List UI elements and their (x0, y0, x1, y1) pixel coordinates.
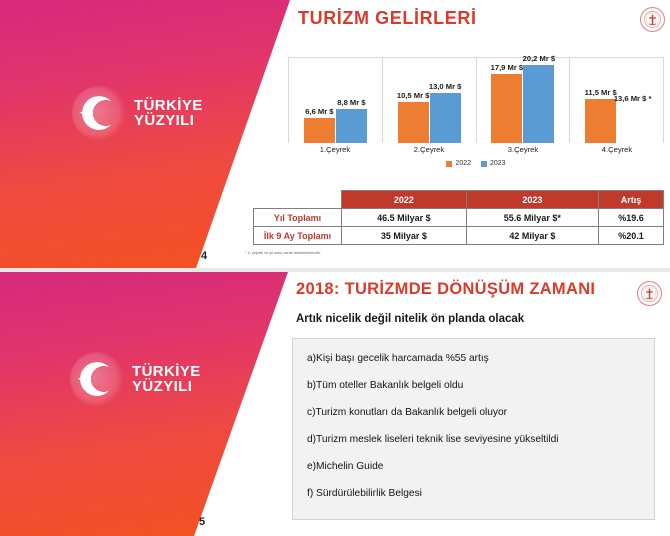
legend-swatch-2022 (446, 161, 452, 167)
bar-2023-q4-projected: 13,6 Mr $ * (617, 90, 648, 143)
legend-label-2023: 2023 (490, 160, 506, 167)
list-item: a)Kişi başı gecelik harcamada %55 artış (307, 353, 654, 364)
chart-group-q3: 17,9 Mr $ 20,2 Mr $ (477, 58, 571, 143)
bar-label-2023-q3: 20,2 Mr $ (523, 54, 556, 63)
brand-logo: ✦ TÜRKİYE YÜZYILI (70, 352, 201, 406)
bar-label-2022-q4: 11,5 Mr $ (585, 88, 617, 97)
table-header-row: 2022 2023 Artış (254, 191, 664, 209)
table-header-2022: 2022 (342, 191, 467, 209)
brand-line-2: YÜZYILI (134, 113, 203, 128)
star-glyph: ✦ (77, 373, 88, 386)
bar-2022-q3: 17,9 Mr $ (491, 74, 522, 143)
footnote: * 4. çeyrek ve yıl sonu verisi tahminler… (245, 251, 321, 255)
list-item: f) Sürdürülebilirlik Belgesi (307, 488, 654, 499)
brand-wordmark: TÜRKİYE YÜZYILI (132, 364, 201, 395)
star-glyph: ✦ (79, 107, 90, 120)
cell-yil-artis: %19.6 (598, 209, 663, 227)
table-row: İlk 9 Ay Toplamı 35 Milyar $ 42 Milyar $… (254, 227, 664, 245)
crescent-star-icon: ✦ (72, 86, 126, 140)
list-item: c)Turizm konutları da Bakanlık belgeli o… (307, 407, 654, 418)
chart-plot-area: 6,6 Mr $ 8,8 Mr $ 10,5 Mr $ 13,0 Mr $ (288, 57, 664, 143)
cell-yil-2022: 46.5 Milyar $ (342, 209, 467, 227)
bar-2023-q3: 20,2 Mr $ (523, 65, 554, 143)
chart-x-axis-labels: 1.Çeyrek 2.Çeyrek 3.Çeyrek 4.Çeyrek (288, 145, 664, 159)
table-row: Yıl Toplamı 46.5 Milyar $ 55.6 Milyar $*… (254, 209, 664, 227)
slide-deck: ✦ TÜRKİYE YÜZYILI TURİZM GELİRLERİ (0, 0, 670, 536)
ministry-emblem-icon (637, 281, 662, 306)
revenue-summary-table: 2022 2023 Artış Yıl Toplamı 46.5 Milyar … (253, 190, 664, 245)
bar-2022-q2: 10,5 Mr $ (398, 102, 429, 143)
table-header-artis: Artış (598, 191, 663, 209)
list-item: d)Turizm meslek liseleri teknik lise sev… (307, 434, 654, 445)
legend-label-2022: 2022 (455, 160, 471, 167)
x-tick-q4: 4.Çeyrek (570, 145, 664, 159)
brand-line-2: YÜZYILI (132, 379, 201, 394)
bar-label-2022-q1: 6,6 Mr $ (305, 107, 333, 116)
row-label-yil-toplami: Yıl Toplamı (254, 209, 342, 227)
table-header-2023: 2023 (466, 191, 598, 209)
bar-2023-q1: 8,8 Mr $ (336, 109, 367, 143)
list-item: b)Tüm oteller Bakanlık belgeli oldu (307, 380, 654, 391)
bar-2022-q1: 6,6 Mr $ (304, 118, 335, 144)
chart-legend: 2022 2023 (288, 160, 664, 167)
legend-item-2023: 2023 (481, 160, 506, 167)
x-tick-q1: 1.Çeyrek (288, 145, 382, 159)
chart-group-q1: 6,6 Mr $ 8,8 Mr $ (288, 58, 383, 143)
bar-label-2023-q4: 13,6 Mr $ * (614, 94, 652, 103)
bar-label-2023-q2: 13,0 Mr $ (429, 82, 462, 91)
bar-2023-q2: 13,0 Mr $ (430, 93, 461, 143)
row-label-ilk9ay-toplami: İlk 9 Ay Toplamı (254, 227, 342, 245)
transformation-items-list: a)Kişi başı gecelik harcamada %55 artış … (292, 338, 655, 520)
cell-ilk9ay-artis: %20.1 (598, 227, 663, 245)
table-corner-cell (254, 191, 342, 209)
page-number: 5 (199, 516, 205, 528)
brand-logo: ✦ TÜRKİYE YÜZYILI (72, 86, 203, 140)
page-subtitle: Artık nicelik değil nitelik ön planda ol… (296, 313, 524, 325)
tourism-revenue-chart: 6,6 Mr $ 8,8 Mr $ 10,5 Mr $ 13,0 Mr $ (288, 57, 664, 169)
legend-item-2022: 2022 (446, 160, 471, 167)
list-item: e)Michelin Guide (307, 461, 654, 472)
bar-label-2022-q2: 10,5 Mr $ (397, 91, 430, 100)
cell-ilk9ay-2022: 35 Milyar $ (342, 227, 467, 245)
slide-turizm-gelirleri: ✦ TÜRKİYE YÜZYILI TURİZM GELİRLERİ (0, 0, 670, 268)
page-number: 4 (201, 250, 207, 262)
crescent-star-icon: ✦ (70, 352, 124, 406)
brand-line-1: TÜRKİYE (132, 364, 201, 379)
brand-line-1: TÜRKİYE (134, 98, 203, 113)
bar-label-2022-q3: 17,9 Mr $ (491, 63, 524, 72)
ministry-emblem-icon (640, 7, 665, 32)
chart-group-q4: 11,5 Mr $ 13,6 Mr $ * (570, 58, 664, 143)
x-tick-q2: 2.Çeyrek (382, 145, 476, 159)
x-tick-q3: 3.Çeyrek (476, 145, 570, 159)
bar-2022-q4: 11,5 Mr $ (585, 99, 616, 143)
legend-swatch-2023 (481, 161, 487, 167)
page-title: TURİZM GELİRLERİ (298, 8, 477, 29)
chart-group-q2: 10,5 Mr $ 13,0 Mr $ (383, 58, 477, 143)
brand-wordmark: TÜRKİYE YÜZYILI (134, 98, 203, 129)
page-title: 2018: TURİZMDE DÖNÜŞÜM ZAMANI (296, 280, 595, 299)
cell-ilk9ay-2023: 42 Milyar $ (466, 227, 598, 245)
bar-label-2023-q1: 8,8 Mr $ (337, 98, 365, 107)
cell-yil-2023: 55.6 Milyar $* (466, 209, 598, 227)
